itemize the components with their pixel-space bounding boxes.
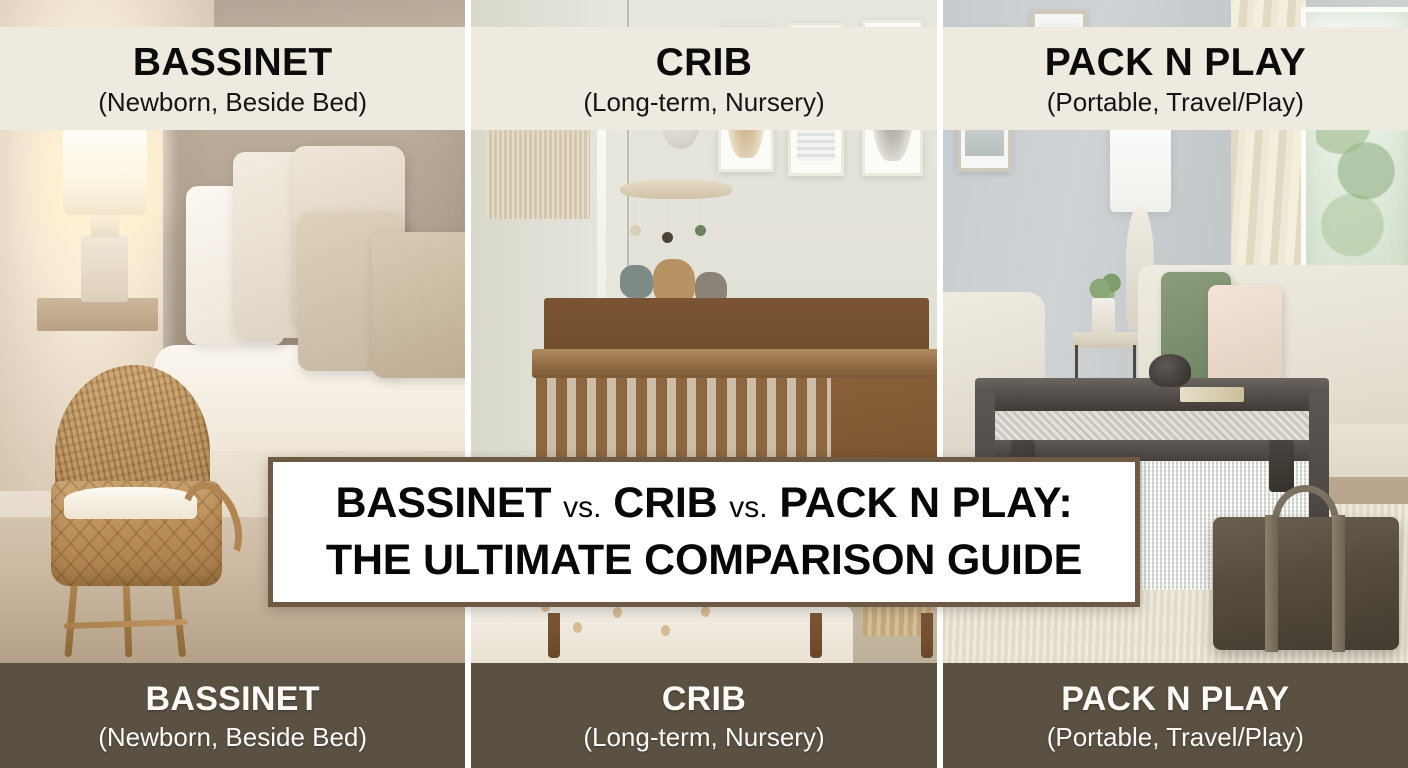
table-lamp-base xyxy=(81,235,128,301)
header-title: BASSINET xyxy=(133,43,333,82)
playard-fabric-band xyxy=(986,411,1318,442)
footer-title: PACK N PLAY xyxy=(1061,682,1289,716)
footer-band-pack-n-play: PACK N PLAY (Portable, Travel/Play) xyxy=(943,663,1408,768)
title-word-pack-n-play: PACK N PLAY: xyxy=(779,479,1072,527)
crib-mobile-bar xyxy=(620,179,732,199)
playard-top-rail xyxy=(975,378,1329,411)
header-band-pack-n-play: PACK N PLAY (Portable, Travel/Play) xyxy=(943,27,1408,130)
footer-title: CRIB xyxy=(662,682,746,716)
playard-travel-bag xyxy=(1213,517,1399,650)
rug-dot xyxy=(661,625,670,636)
mobile-bead xyxy=(630,225,641,236)
header-band-bassinet: BASSINET (Newborn, Beside Bed) xyxy=(0,27,465,130)
footer-subtitle: (Newborn, Beside Bed) xyxy=(98,724,367,750)
playard-brand-label xyxy=(1180,387,1244,401)
travel-bag-strap xyxy=(1332,515,1345,653)
playard-toy-icon xyxy=(1149,354,1191,387)
title-word-crib: CRIB xyxy=(613,479,717,527)
crib-top-rail xyxy=(532,349,937,378)
header-title: CRIB xyxy=(656,43,753,82)
rug-dot xyxy=(573,622,582,633)
panel-crib: CRIB (Long-term, Nursery) CRIB (Long-ter… xyxy=(471,0,936,768)
main-title-banner: BASSINET vs. CRIB vs. PACK N PLAY: THE U… xyxy=(268,457,1140,607)
travel-bag-strap xyxy=(1265,515,1278,653)
header-subtitle: (Long-term, Nursery) xyxy=(583,89,824,115)
playard-corner-bracket xyxy=(1269,440,1294,493)
header-band-crib: CRIB (Long-term, Nursery) xyxy=(471,27,936,130)
header-subtitle: (Newborn, Beside Bed) xyxy=(98,89,367,115)
header-subtitle: (Portable, Travel/Play) xyxy=(1047,89,1304,115)
title-vs-2: vs. xyxy=(729,491,767,524)
travel-bag-body xyxy=(1213,517,1399,650)
panel-pack-n-play: PACK N PLAY (Portable, Travel/Play) PACK… xyxy=(943,0,1408,768)
panel-bassinet: BASSINET (Newborn, Beside Bed) BASSINET … xyxy=(0,0,465,768)
mobile-bead xyxy=(662,232,673,243)
crib-leg xyxy=(921,613,933,658)
macrame-fringe xyxy=(487,123,590,219)
title-vs-1: vs. xyxy=(563,491,601,524)
bassinet-leg xyxy=(123,580,133,656)
footer-band-crib: CRIB (Long-term, Nursery) xyxy=(471,663,936,768)
side-table xyxy=(1073,332,1138,349)
crib-leg xyxy=(548,613,560,658)
panel-columns: BASSINET (Newborn, Beside Bed) BASSINET … xyxy=(0,0,1408,768)
bed-pillow xyxy=(372,232,465,378)
title-word-bassinet: BASSINET xyxy=(336,479,552,527)
mobile-bead xyxy=(695,225,706,236)
wicker-bassinet xyxy=(51,365,265,657)
table-lamp-neck xyxy=(91,214,119,237)
header-title: PACK N PLAY xyxy=(1045,43,1306,82)
main-title-line-2: THE ULTIMATE COMPARISON GUIDE xyxy=(326,536,1082,585)
footer-subtitle: (Portable, Travel/Play) xyxy=(1047,724,1304,750)
bassinet-leg xyxy=(171,577,186,656)
main-title-inner: BASSINET vs. CRIB vs. PACK N PLAY: THE U… xyxy=(273,462,1135,602)
footer-subtitle: (Long-term, Nursery) xyxy=(583,724,824,750)
footer-band-bassinet: BASSINET (Newborn, Beside Bed) xyxy=(0,663,465,768)
comparison-infographic: BASSINET (Newborn, Beside Bed) BASSINET … xyxy=(0,0,1408,768)
bassinet-leg xyxy=(65,575,79,657)
mobile-animal-wolf-icon xyxy=(620,265,653,298)
crib-leg xyxy=(810,613,822,658)
bassinet-sheet xyxy=(64,487,197,519)
nightstand xyxy=(37,298,158,331)
table-lamp-shade-icon xyxy=(63,126,147,216)
footer-title: BASSINET xyxy=(146,682,320,716)
main-title-line-1: BASSINET vs. CRIB vs. PACK N PLAY: xyxy=(336,479,1073,528)
